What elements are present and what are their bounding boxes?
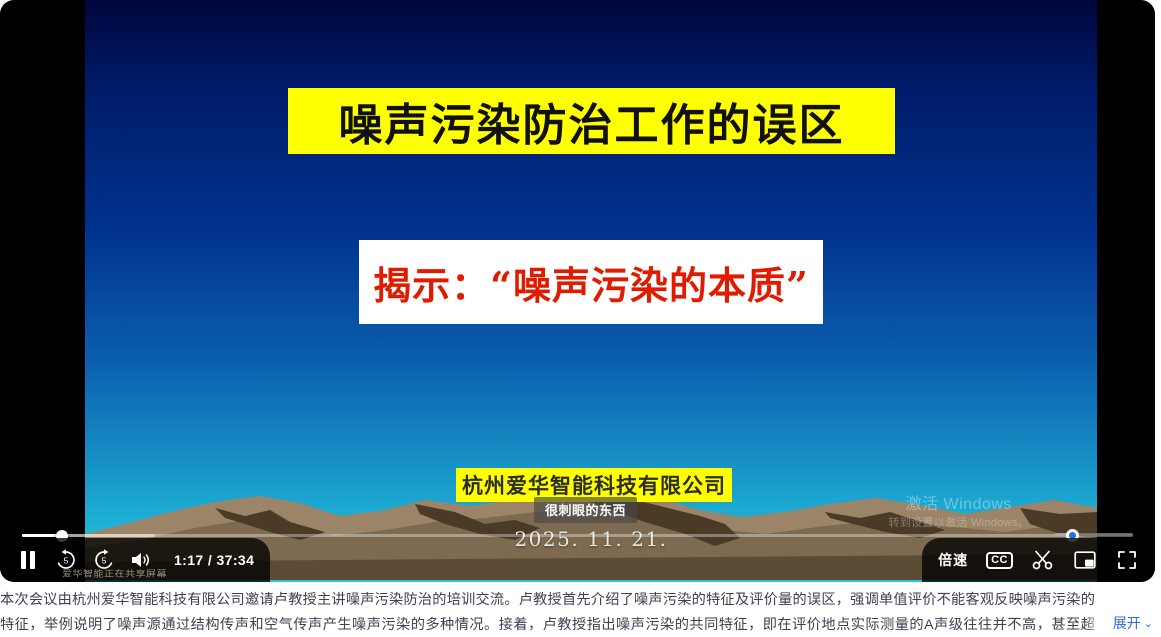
cc-icon[interactable]: CC [986, 552, 1013, 569]
control-bar-right: 倍速 CC [922, 538, 1155, 582]
slide-company-name: 杭州爱华智能科技有限公司 [462, 470, 726, 500]
svg-text:5: 5 [64, 556, 69, 566]
chevron-down-icon: ⌄ [1144, 617, 1153, 630]
expand-label: 展开 [1113, 613, 1141, 633]
danmaku-comment: 很刺眼的东西 [534, 497, 637, 523]
playback-speed-button[interactable]: 倍速 [938, 550, 968, 570]
slide-title-box: 噪声污染防治工作的误区 [288, 88, 895, 154]
slide-subtitle-box: 揭示：“噪声污染的本质” [359, 240, 823, 324]
transcript-text: 本次会议由杭州爱华智能科技有限公司邀请卢教授主讲噪声污染防治的培训交流。卢教授首… [0, 588, 1161, 637]
fullscreen-icon[interactable] [1115, 548, 1139, 572]
time-display: 1:17 / 37:34 [174, 552, 254, 568]
progress-track[interactable] [22, 534, 1133, 537]
pause-icon[interactable] [16, 548, 40, 572]
transcript-summary: 本次会议由杭州爱华智能科技有限公司邀请卢教授主讲噪声污染防治的培训交流。卢教授首… [0, 586, 1161, 637]
slide-subtitle: 揭示：“噪声污染的本质” [373, 255, 809, 310]
video-player-page: 噪声污染防治工作的误区 揭示：“噪声污染的本质” 杭州爱华智能科技有限公司 很刺… [0, 0, 1161, 637]
expand-transcript-button[interactable]: 展开 ⌄ [1087, 613, 1153, 633]
video-stage[interactable]: 噪声污染防治工作的误区 揭示：“噪声污染的本质” 杭州爱华智能科技有限公司 很刺… [85, 0, 1097, 582]
scissors-icon[interactable] [1031, 548, 1055, 572]
control-bar: 5 5 1:17 / 3 [0, 538, 1155, 582]
screen-share-watermark: 爱华智能正在共享屏幕 [62, 566, 167, 579]
picture-in-picture-icon[interactable] [1073, 548, 1097, 572]
slide-title: 噪声污染防治工作的误区 [339, 89, 845, 153]
svg-text:5: 5 [102, 556, 107, 566]
video-player[interactable]: 噪声污染防治工作的误区 揭示：“噪声污染的本质” 杭州爱华智能科技有限公司 很刺… [0, 0, 1155, 582]
